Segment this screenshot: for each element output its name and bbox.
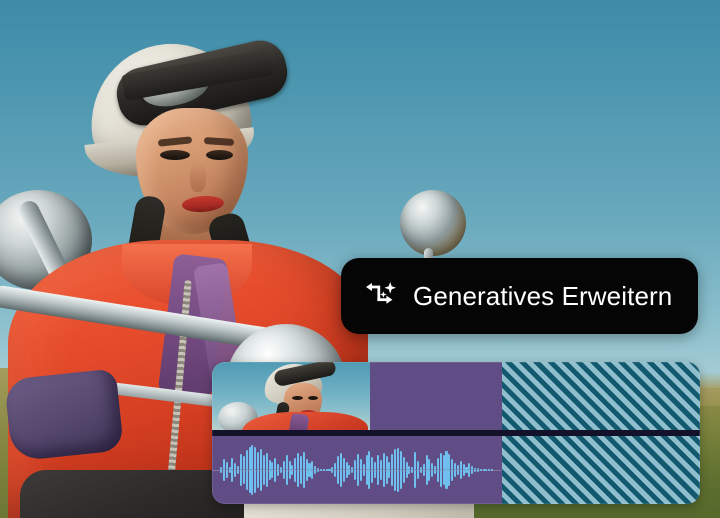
waveform-bar bbox=[377, 470, 379, 485]
waveform-bar bbox=[397, 448, 399, 470]
waveform-bar bbox=[286, 455, 288, 470]
waveform-bar bbox=[426, 470, 428, 485]
waveform-bar bbox=[246, 450, 248, 470]
waveform-bar bbox=[397, 470, 399, 492]
waveform-bar bbox=[380, 470, 382, 480]
waveform-bar bbox=[297, 470, 299, 487]
clip-thumbnail bbox=[212, 362, 370, 430]
waveform-bar bbox=[311, 470, 313, 479]
waveform-bar bbox=[246, 470, 248, 490]
generative-expand-button[interactable]: Generatives Erweitern bbox=[341, 258, 698, 334]
waveform-bar bbox=[451, 470, 453, 481]
waveform-bar bbox=[289, 461, 291, 470]
waveform-bar bbox=[251, 470, 253, 495]
audio-waveform bbox=[212, 436, 502, 504]
waveform-bar bbox=[420, 470, 422, 473]
waveform-bar bbox=[440, 470, 442, 487]
waveform-bar bbox=[274, 470, 276, 482]
waveform-bar bbox=[277, 470, 279, 476]
waveform-bar bbox=[308, 463, 310, 470]
waveform-bar bbox=[414, 452, 416, 470]
waveform-bar bbox=[445, 451, 447, 470]
waveform-bar bbox=[323, 470, 325, 471]
waveform-bar bbox=[220, 470, 222, 473]
waveform-bar bbox=[465, 470, 467, 473]
waveform-bar bbox=[297, 453, 299, 470]
waveform-bar bbox=[460, 461, 462, 470]
waveform-bar bbox=[223, 459, 225, 470]
waveform-bar bbox=[417, 461, 419, 470]
waveform-bar bbox=[391, 470, 393, 486]
waveform-bar bbox=[360, 459, 362, 470]
waveform-bar bbox=[411, 470, 413, 473]
waveform-bar bbox=[263, 470, 265, 485]
waveform-bar bbox=[311, 461, 313, 470]
waveform-bar bbox=[303, 452, 305, 470]
waveform-bar bbox=[454, 463, 456, 470]
waveform-bar bbox=[368, 470, 370, 489]
waveform-bar bbox=[308, 470, 310, 477]
waveform-bar bbox=[306, 470, 308, 481]
waveform-bar bbox=[317, 470, 319, 472]
waveform-bar bbox=[371, 470, 373, 483]
thumbnail-scarf bbox=[289, 413, 310, 430]
waveform-bar bbox=[234, 463, 236, 470]
waveform-bar bbox=[443, 455, 445, 470]
waveform-bar bbox=[231, 470, 233, 482]
waveform-bar bbox=[440, 453, 442, 470]
waveform-bar bbox=[477, 470, 479, 472]
waveform-bar bbox=[426, 455, 428, 470]
waveform-bar bbox=[463, 470, 465, 476]
waveform-bar bbox=[388, 470, 390, 478]
audio-track[interactable] bbox=[212, 436, 700, 504]
waveform-bar bbox=[360, 470, 362, 481]
waveform-bar bbox=[283, 470, 285, 479]
waveform-bar bbox=[334, 470, 336, 477]
waveform-bar bbox=[437, 458, 439, 470]
waveform-bar bbox=[448, 454, 450, 470]
waveform-bar bbox=[383, 453, 385, 470]
timeline-clip[interactable] bbox=[212, 362, 700, 504]
nose bbox=[190, 162, 206, 192]
waveform-bar bbox=[480, 470, 482, 471]
thumbnail-eye-left bbox=[292, 396, 303, 400]
waveform-bar bbox=[254, 470, 256, 493]
waveform-bar bbox=[374, 462, 376, 470]
waveform-bar bbox=[294, 470, 296, 482]
screenshot-root: Generatives Erweitern bbox=[0, 0, 720, 518]
thumbnail-eye-right bbox=[308, 396, 318, 400]
eye-right bbox=[206, 150, 233, 160]
waveform-bar bbox=[354, 460, 356, 470]
waveform-bar bbox=[380, 460, 382, 470]
waveform-bar bbox=[374, 470, 376, 478]
waveform-bar bbox=[306, 459, 308, 470]
waveform-bar bbox=[286, 470, 288, 485]
waveform-bar bbox=[263, 455, 265, 470]
waveform-bar bbox=[386, 456, 388, 470]
waveform-bar bbox=[249, 447, 251, 470]
chrome-mirror-right bbox=[400, 190, 466, 256]
waveform-bar bbox=[357, 470, 359, 486]
waveform-bar bbox=[280, 470, 282, 473]
waveform-bar bbox=[428, 459, 430, 470]
waveform-bar bbox=[240, 454, 242, 470]
waveform-bar bbox=[468, 463, 470, 470]
waveform-bar bbox=[271, 470, 273, 478]
waveform-bar bbox=[320, 470, 322, 471]
waveform-bar bbox=[400, 470, 402, 489]
waveform-bar bbox=[391, 454, 393, 470]
waveform-bar bbox=[337, 456, 339, 470]
waveform-bar bbox=[403, 457, 405, 470]
waveform-bar bbox=[383, 470, 385, 487]
waveform-bar bbox=[445, 470, 447, 489]
waveform-bar bbox=[471, 470, 473, 474]
waveform-bar bbox=[243, 456, 245, 470]
waveform-bar bbox=[437, 470, 439, 482]
waveform-bar bbox=[249, 470, 251, 493]
waveform-bar bbox=[406, 462, 408, 470]
waveform-bar bbox=[254, 447, 256, 470]
waveform-bar bbox=[271, 462, 273, 470]
waveform-bar bbox=[343, 458, 345, 470]
audio-generative-region[interactable] bbox=[502, 436, 700, 504]
waveform-bar bbox=[337, 470, 339, 484]
waveform-bar bbox=[326, 470, 328, 471]
waveform-bar bbox=[343, 470, 345, 482]
waveform-bar bbox=[451, 459, 453, 470]
waveform-bar bbox=[434, 470, 436, 474]
generative-expand-label: Generatives Erweitern bbox=[413, 281, 672, 312]
waveform-bar bbox=[300, 456, 302, 470]
waveform-bar bbox=[257, 452, 259, 470]
waveform-bar bbox=[474, 470, 476, 472]
waveform-bar bbox=[274, 458, 276, 470]
waveform-bar bbox=[240, 470, 242, 486]
waveform-bar bbox=[491, 470, 493, 471]
waveform-bar bbox=[363, 470, 365, 476]
waveform-bar bbox=[229, 470, 231, 473]
glove bbox=[4, 368, 124, 461]
waveform-bar bbox=[386, 470, 388, 484]
waveform-bar bbox=[388, 462, 390, 470]
waveform-bar bbox=[454, 470, 456, 477]
waveform-bar bbox=[400, 451, 402, 470]
waveform-bar bbox=[346, 462, 348, 470]
waveform-bar bbox=[314, 470, 316, 474]
eye-left bbox=[160, 150, 190, 160]
waveform-bar bbox=[266, 453, 268, 470]
waveform-bar bbox=[366, 470, 368, 485]
waveform-bar bbox=[269, 460, 271, 470]
waveform-bar bbox=[417, 470, 419, 479]
waveform-bar bbox=[394, 470, 396, 491]
waveform-bar bbox=[289, 470, 291, 479]
waveform-bar bbox=[303, 470, 305, 488]
waveform-bar bbox=[371, 457, 373, 470]
waveform-bar bbox=[428, 470, 430, 481]
waveform-bar bbox=[414, 470, 416, 488]
waveform-bar bbox=[403, 470, 405, 483]
video-generative-region[interactable] bbox=[502, 362, 700, 430]
waveform-bar bbox=[406, 470, 408, 478]
waveform-bar bbox=[300, 470, 302, 484]
waveform-bar bbox=[243, 470, 245, 484]
waveform-bar bbox=[431, 470, 433, 477]
waveform-bar bbox=[260, 449, 262, 470]
waveform-bar bbox=[260, 470, 262, 491]
waveform-bar bbox=[354, 470, 356, 480]
waveform-bar bbox=[443, 470, 445, 485]
waveform-bar bbox=[226, 470, 228, 478]
waveform-bar bbox=[457, 470, 459, 475]
waveform-bar bbox=[251, 445, 253, 470]
waveform-bar bbox=[283, 461, 285, 470]
waveform-bar bbox=[448, 470, 450, 486]
waveform-bar bbox=[423, 470, 425, 476]
waveform-bar bbox=[223, 470, 225, 481]
waveform-bar bbox=[377, 455, 379, 470]
waveform-bar bbox=[334, 463, 336, 470]
waveform-bar bbox=[226, 462, 228, 470]
waveform-bar bbox=[266, 470, 268, 487]
waveform-bar bbox=[234, 470, 236, 477]
waveform-bar bbox=[231, 458, 233, 470]
waveform-bar bbox=[340, 470, 342, 487]
waveform-bar bbox=[269, 470, 271, 480]
waveform-bar bbox=[483, 470, 485, 471]
waveform-bar bbox=[357, 454, 359, 470]
video-track[interactable] bbox=[212, 362, 700, 430]
waveform-bar bbox=[366, 455, 368, 470]
waveform-bar bbox=[460, 470, 462, 479]
waveform-bar bbox=[368, 451, 370, 470]
waveform-bar bbox=[294, 458, 296, 470]
waveform-bar bbox=[237, 470, 239, 474]
waveform-bar bbox=[431, 463, 433, 470]
waveform-bar bbox=[340, 453, 342, 470]
waveform-bar bbox=[394, 449, 396, 470]
generative-expand-icon bbox=[365, 280, 399, 312]
waveform-bar bbox=[468, 470, 470, 477]
waveform-bar bbox=[257, 470, 259, 488]
waveform-bar bbox=[346, 470, 348, 478]
waveform-bar bbox=[328, 470, 330, 471]
